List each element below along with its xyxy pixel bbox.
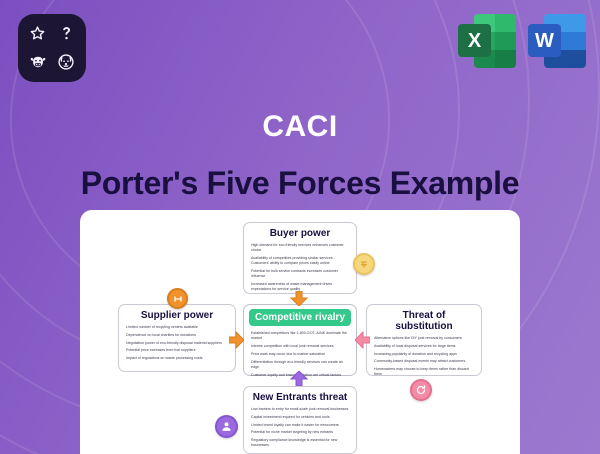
badge-buyer-coin-icon — [353, 253, 375, 275]
list-item: Differentiation through eco-friendly ser… — [251, 360, 349, 370]
force-point-list: Alternative options like DIY junk remova… — [374, 336, 474, 378]
office-icon-group: X W — [458, 12, 586, 70]
force-box-supplier-power[interactable]: Supplier power Limited number of recycli… — [118, 304, 236, 372]
excel-icon[interactable]: X — [458, 12, 516, 70]
list-item: Increasing popularity of donation and re… — [374, 352, 474, 357]
force-point-list: Low barriers to entry for small-scale ju… — [251, 407, 349, 449]
list-item: Intense competition with local junk remo… — [251, 344, 349, 349]
list-item: Availability of local disposal services … — [374, 344, 474, 349]
excel-badge-letter: X — [458, 24, 491, 57]
force-box-new-entrants-threat[interactable]: New Entrants threat Low barriers to entr… — [243, 386, 357, 454]
force-point-list: High demand for eco-friendly services en… — [251, 243, 349, 292]
force-box-title: Threat of substitution — [374, 310, 474, 332]
force-box-title: New Entrants threat — [251, 392, 349, 403]
arrow-substitution-to-rivalry — [355, 331, 370, 349]
list-item: Potential price increases from fuel supp… — [126, 348, 228, 353]
list-item: Limited brand loyalty can make it easier… — [251, 423, 349, 428]
list-item: Price wars may occur due to market satur… — [251, 352, 349, 357]
force-box-title: Supplier power — [126, 310, 228, 321]
badge-substitution-recycle-icon — [410, 379, 432, 401]
force-box-title: Competitive rivalry — [249, 309, 351, 326]
list-item: Limited number of recycling centers avai… — [126, 325, 228, 330]
word-icon[interactable]: W — [528, 12, 586, 70]
list-item: Regulatory compliance knowledge is essen… — [251, 438, 349, 448]
list-item: Potential for niche market targeting by … — [251, 430, 349, 435]
cow-face-icon — [25, 50, 51, 76]
list-item: Negotiation power of eco-friendly dispos… — [126, 341, 228, 346]
question-mark-icon — [54, 21, 80, 47]
badge-supplier-link-icon — [167, 288, 188, 309]
force-box-threat-of-substitution[interactable]: Threat of substitution Alternative optio… — [366, 304, 482, 376]
star-icon — [25, 21, 51, 47]
slide-canvas: X W CACI Porter's Five Forces Example Bu… — [0, 0, 600, 454]
list-item: Established competitors like 1-800-GOT-J… — [251, 331, 349, 341]
list-item: Dependence on local charities for donati… — [126, 333, 228, 338]
page-title: Porter's Five Forces Example — [0, 165, 600, 202]
app-logo[interactable] — [18, 14, 86, 82]
force-point-list: Limited number of recycling centers avai… — [126, 325, 228, 361]
arrow-buyer-to-rivalry — [290, 291, 308, 306]
list-item: Availability of competitors providing si… — [251, 256, 349, 266]
dog-face-icon — [54, 50, 80, 76]
list-item: Alternative options like DIY junk remova… — [374, 336, 474, 341]
list-item: Impact of regulations on waste processin… — [126, 356, 228, 361]
arrow-entrants-to-rivalry — [290, 371, 308, 386]
list-item: High demand for eco-friendly services en… — [251, 243, 349, 253]
list-item: Homeowners may choose to keep items rath… — [374, 367, 474, 377]
word-badge-letter: W — [528, 24, 561, 57]
brand-title: CACI — [0, 110, 600, 144]
list-item: Capital investment required for vehicles… — [251, 415, 349, 420]
arrow-supplier-to-rivalry — [229, 331, 244, 349]
force-box-competitive-rivalry[interactable]: Competitive rivalry Established competit… — [243, 304, 357, 376]
force-box-buyer-power[interactable]: Buyer power High demand for eco-friendly… — [243, 222, 357, 294]
list-item: Community-based disposal events may attr… — [374, 359, 474, 364]
force-box-title: Buyer power — [251, 228, 349, 239]
badge-entrants-user-icon — [215, 415, 238, 438]
list-item: Low barriers to entry for small-scale ju… — [251, 407, 349, 412]
list-item: Potential for bulk service contracts inc… — [251, 269, 349, 279]
